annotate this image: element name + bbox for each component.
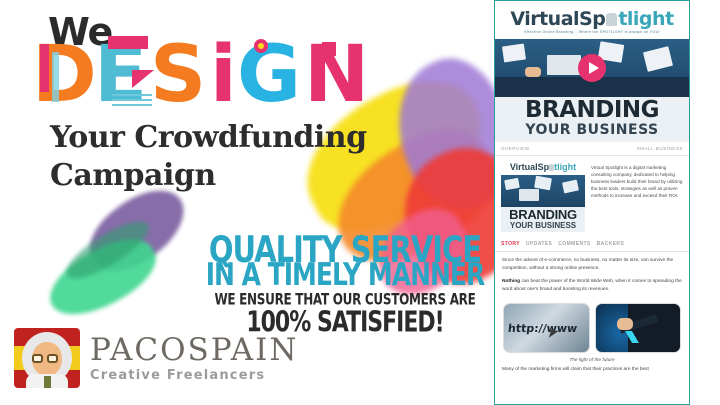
play-icon[interactable] <box>578 54 606 82</box>
tab-story[interactable]: STORY <box>501 241 520 247</box>
story-image-caption: The light of the future <box>495 353 689 366</box>
hero-banner-line-2: YOUR BUSINESS <box>495 122 689 138</box>
cursor-icon <box>549 329 558 340</box>
overview-block: VirtualSptlight BRANDING YOUR BUSINESS V… <box>495 156 689 236</box>
design-accent-rect-pink <box>108 36 148 49</box>
design-accent-bar-pink <box>40 44 49 92</box>
meta-right-label[interactable]: SMALL BUSINESS <box>637 146 683 151</box>
subheadline-line-2: Campaign <box>50 158 216 193</box>
hero-video[interactable] <box>495 39 689 97</box>
hero-banner-line-1: BRANDING <box>495 99 689 122</box>
businessman-hand-icon <box>617 318 633 330</box>
story-paragraph-2: Nothing can beat the power of the World … <box>502 278 682 294</box>
design-letter-s: S <box>150 32 206 118</box>
hero-hand-1 <box>525 67 541 77</box>
hero-banner: BRANDING YOUR BUSINESS <box>495 97 689 142</box>
card-paper-3 <box>562 180 579 194</box>
story-paragraph-3: Many of the marketing firms will claim t… <box>495 366 689 374</box>
design-letter-i: i <box>210 32 237 118</box>
project-blurb: Virtual Spotlight is a digital marketing… <box>591 162 683 232</box>
story-paragraph-1: Since the advent of e-commerce, no busin… <box>502 257 682 273</box>
design-accent-square-pink <box>322 42 336 56</box>
subheadline-line-1: Your Crowdfunding <box>50 120 367 155</box>
promo-left-panel: We D E S i G N Your Crowdfunding Campaig… <box>0 0 494 405</box>
site-logo-text: VirtualSptlight <box>510 8 673 30</box>
hero-laptop <box>547 55 581 75</box>
card-banner-line-1: BRANDING <box>501 208 585 221</box>
avatar-glasses-left-icon <box>32 354 43 363</box>
meta-row: OVERVIEW SMALL BUSINESS <box>495 142 689 156</box>
story-image-row: http://www <box>495 301 689 353</box>
story-paragraph-2-bold: Nothing <box>502 279 520 284</box>
design-letter-n: N <box>304 32 369 118</box>
design-accent-dot-yellow <box>254 39 268 53</box>
story-image-url[interactable]: http://www <box>503 303 590 353</box>
design-accent-lines <box>112 94 152 108</box>
site-tagline: Effective Online Branding... Where the S… <box>495 30 689 37</box>
hero-paper-1 <box>502 44 526 63</box>
avatar-tie-icon <box>44 376 51 388</box>
project-thumbnail-card[interactable]: VirtualSptlight BRANDING YOUR BUSINESS <box>501 162 585 232</box>
growth-chart-icon <box>601 331 664 343</box>
brand-tagline: Creative Freelancers <box>90 368 299 383</box>
card-logo-part-2: tlight <box>554 162 576 172</box>
design-letter-g: G <box>237 32 301 118</box>
avatar-glasses-right-icon <box>47 354 58 363</box>
brand-name: PACOSPAIN <box>90 334 299 366</box>
site-logo: VirtualSptlight Effective Online Brandin… <box>495 1 689 39</box>
tab-backers[interactable]: BACKERS <box>597 241 625 247</box>
content-tabs[interactable]: STORY UPDATES COMMENTS BACKERS <box>495 236 689 252</box>
tab-comments[interactable]: COMMENTS <box>558 241 590 247</box>
site-logo-part-1: VirtualSp <box>510 8 605 30</box>
card-banner: BRANDING YOUR BUSINESS <box>501 207 585 232</box>
story-body: Since the advent of e-commerce, no busin… <box>495 252 689 301</box>
quality-line-2: IN A TIMELY MANNER <box>200 256 490 292</box>
design-accent-triangle <box>132 70 154 88</box>
site-preview-panel[interactable]: VirtualSptlight Effective Online Brandin… <box>494 0 690 405</box>
card-banner-line-2: YOUR BUSINESS <box>501 221 585 230</box>
tab-updates[interactable]: UPDATES <box>526 241 552 247</box>
promo-screenshot: We D E S i G N Your Crowdfunding Campaig… <box>0 0 720 405</box>
card-image <box>501 175 585 207</box>
story-image-growth[interactable] <box>595 303 682 353</box>
avatar <box>14 328 80 388</box>
brand-lockup: PACOSPAIN Creative Freelancers <box>14 328 299 388</box>
story-paragraph-2-rest: can beat the power of the World Wide Web… <box>502 279 682 292</box>
headline-design: D E S i G N <box>32 32 392 122</box>
card-laptop <box>519 189 539 201</box>
design-accent-bar-teal <box>52 52 59 102</box>
ensure-line-1: WE ENSURE THAT OUR CUSTOMERS ARE <box>200 290 490 308</box>
meta-left-label[interactable]: OVERVIEW <box>501 146 530 151</box>
story-image-url-text: http://www <box>507 322 578 335</box>
site-logo-part-2: tlight <box>618 8 673 30</box>
card-logo: VirtualSptlight <box>501 162 585 173</box>
spotlight-bulb-icon <box>606 13 617 26</box>
card-logo-part-1: VirtualSp <box>510 162 549 172</box>
brand-text: PACOSPAIN Creative Freelancers <box>90 334 299 383</box>
card-paper-1 <box>504 178 520 190</box>
hero-paper-3 <box>643 46 673 72</box>
